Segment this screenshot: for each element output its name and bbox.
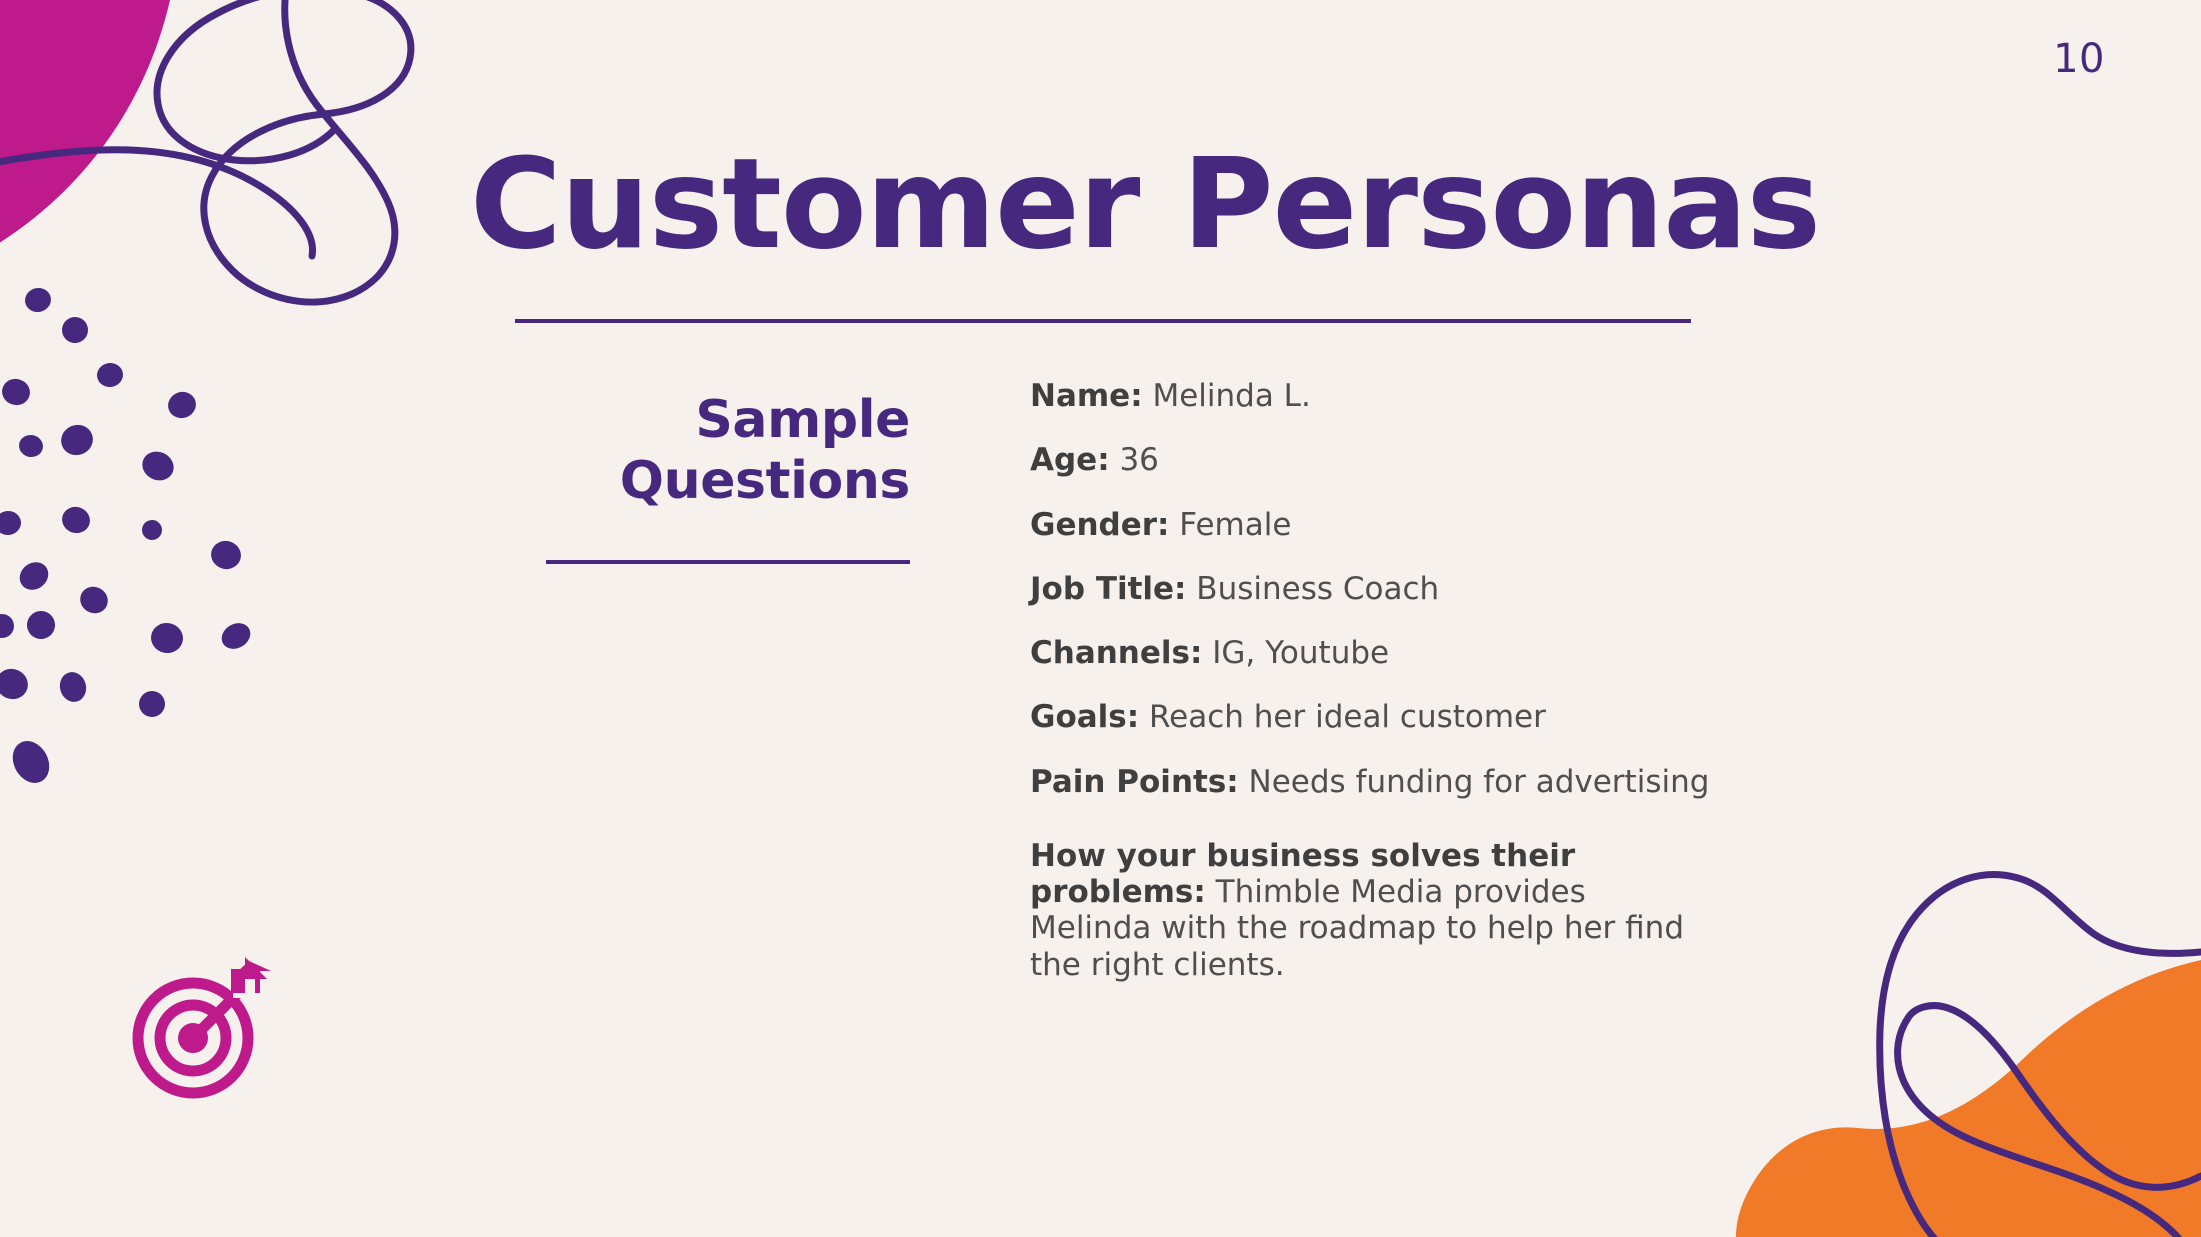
persona-detail-row: Age: 36 [1030,442,1710,478]
persona-detail-row: Pain Points: Needs funding for advertisi… [1030,764,1710,800]
persona-detail-label: Channels: [1030,635,1202,671]
section-heading-divider [546,560,910,564]
persona-detail-label: Goals: [1030,699,1139,735]
persona-detail-value: IG, Youtube [1202,635,1389,671]
persona-detail-value: 36 [1110,442,1159,478]
title-divider [515,319,1691,323]
persona-detail-label: Pain Points: [1030,764,1239,800]
persona-detail-row: How your business solves their problems:… [1030,838,1710,983]
persona-detail-label: Age: [1030,442,1110,478]
magenta-blob-shape [0,0,480,450]
persona-detail-row: Name: Melinda L. [1030,378,1710,414]
persona-detail-row: Gender: Female [1030,507,1710,543]
section-heading-sample-questions: SampleQuestions [450,390,910,512]
persona-detail-row: Goals: Reach her ideal customer [1030,699,1710,735]
persona-detail-row: Channels: IG, Youtube [1030,635,1710,671]
persona-detail-value: Reach her ideal customer [1139,699,1546,735]
persona-detail-value: Melinda L. [1143,378,1311,414]
persona-detail-value: Female [1169,507,1291,543]
page-title: Customer Personas [470,140,1740,270]
orange-blob-shape [1700,880,2201,1237]
scattered-dots-pattern [0,270,300,800]
target-bullseye-icon [125,955,275,1105]
persona-detail-value: Business Coach [1186,571,1439,607]
slide-canvas: 10 Customer Personas SampleQuestions Nam… [0,0,2201,1237]
persona-detail-label: Job Title: [1030,571,1186,607]
squiggle-line-top [0,0,460,320]
persona-detail-value: Needs funding for advertising [1239,764,1710,800]
persona-detail-row: Job Title: Business Coach [1030,571,1710,607]
persona-detail-label: Name: [1030,378,1143,414]
squiggle-line-bottom [1700,860,2201,1237]
persona-detail-list: Name: Melinda L.Age: 36Gender: FemaleJob… [1030,378,1710,983]
persona-detail-label: Gender: [1030,507,1169,543]
page-number: 10 [2053,36,2105,82]
